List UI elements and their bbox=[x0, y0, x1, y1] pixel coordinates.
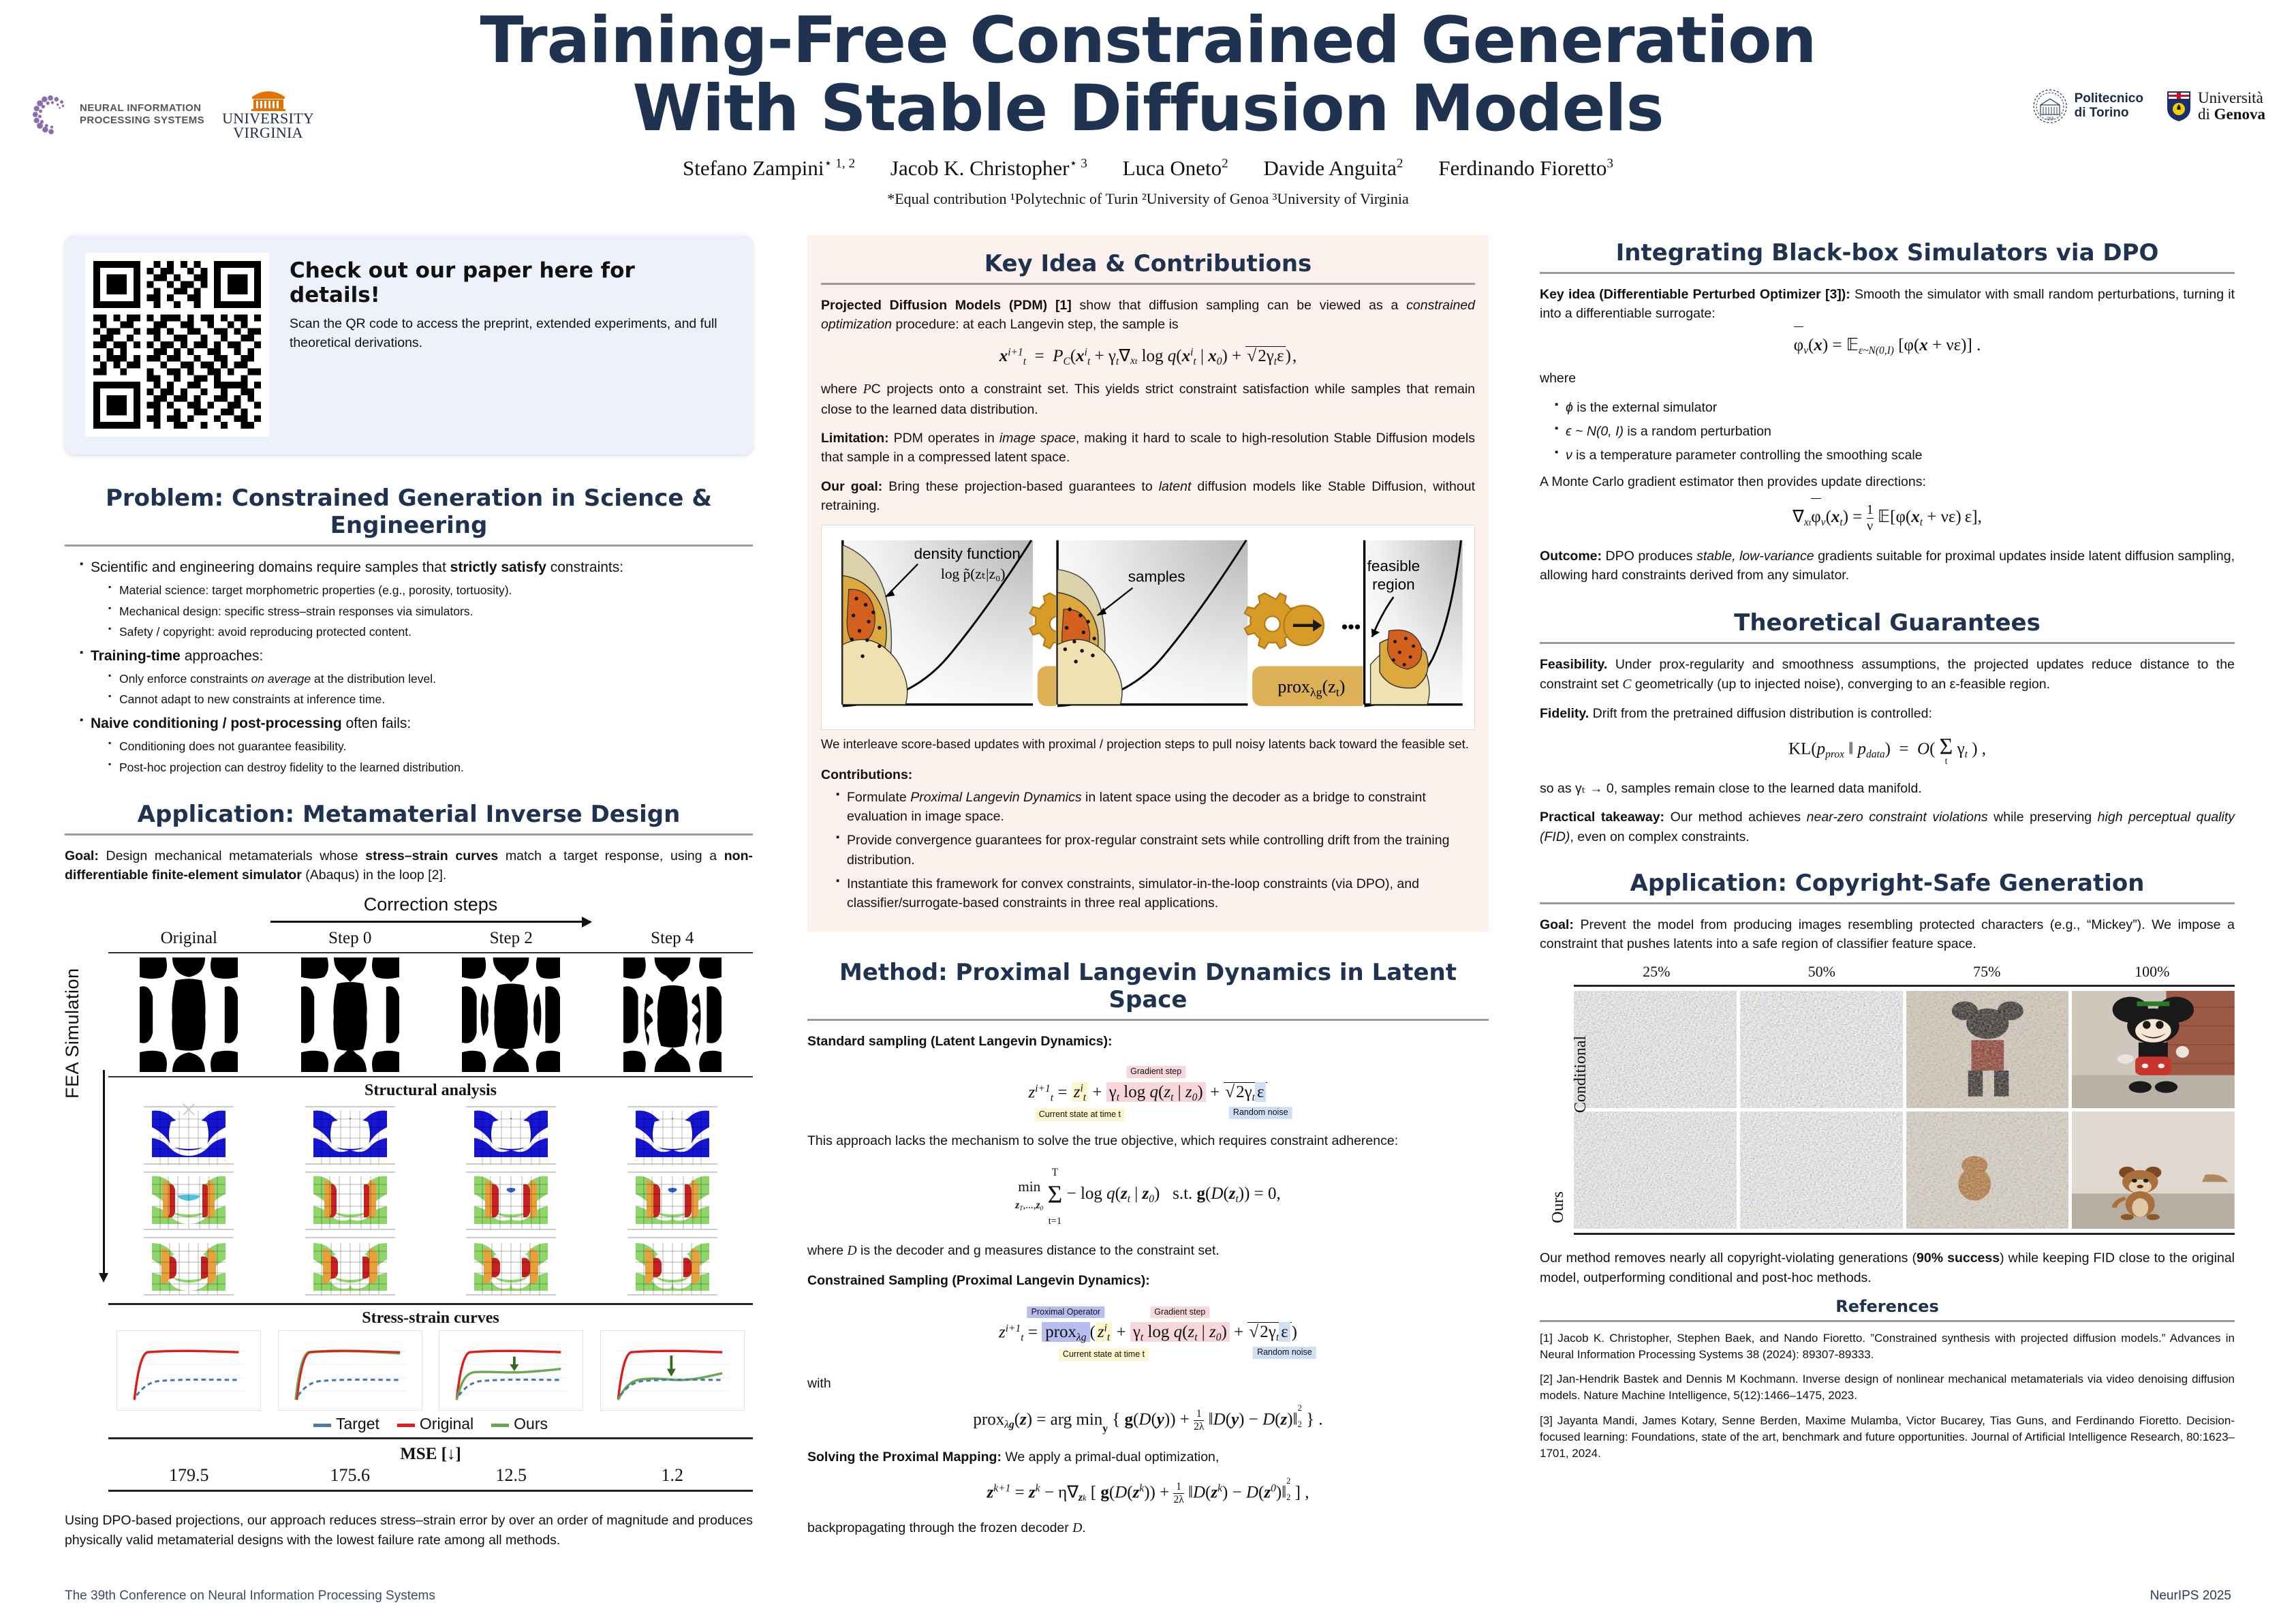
key-idea-limitation: Limitation: PDM operates in image space,… bbox=[821, 429, 1475, 468]
mse-title: MSE [↓] bbox=[108, 1445, 753, 1464]
copyright-conclusion: Our method removes nearly all copyright-… bbox=[1540, 1248, 2235, 1287]
with-label: with bbox=[807, 1374, 1489, 1393]
col-head: 75% bbox=[1904, 963, 2070, 981]
diagram-caption: We interleave score-based updates with p… bbox=[821, 735, 1475, 754]
col-head: Step 4 bbox=[592, 929, 754, 948]
col-head: 25% bbox=[1574, 963, 1739, 981]
formula-latent-langevin: zi+1t = zitCurrent state at time t + γt … bbox=[807, 1083, 1489, 1104]
formula-primal-dual: zk+1 = zk − η∇zk [ g(D(zk)) + 12λ ‖D(zk)… bbox=[807, 1477, 1489, 1506]
qr-code-icon bbox=[93, 261, 261, 429]
fea-row-mid bbox=[108, 1168, 753, 1234]
copyright-col-heads: 25% 50% 75% 100% bbox=[1574, 963, 2235, 981]
sub-bullet-item: Conditioning does not guarantee feasibil… bbox=[108, 738, 753, 755]
stress-strain-legend: Target Original Ours bbox=[108, 1415, 753, 1433]
jerry-image bbox=[2072, 1112, 2235, 1229]
footer-right: NeurIPS 2025 bbox=[2150, 1589, 2231, 1604]
density-formula-label: log p̃(zₜ|z₀) bbox=[941, 566, 1006, 582]
formula-pdm-update: xi+1t = PC(xit + γt∇xt log q(xit | x0) +… bbox=[821, 346, 1475, 368]
prox-diagram-svg: density function log p̃(zₜ|z₀) bbox=[826, 530, 1470, 722]
sub-bullets: Only enforce constraints on average at t… bbox=[91, 671, 753, 709]
qr-card[interactable]: Check out our paper here for details! Sc… bbox=[65, 235, 753, 455]
prox-diagram: density function log p̃(zₜ|z₀) bbox=[821, 525, 1475, 730]
final-sample-cell bbox=[2072, 1112, 2235, 1229]
unige-line1: Università bbox=[2198, 90, 2265, 106]
legend-swatch bbox=[313, 1424, 331, 1427]
poster-root: NEURAL INFORMATION PROCESSING SYSTEMS bbox=[0, 0, 2296, 1624]
stress-chart-cell bbox=[108, 1330, 270, 1411]
divider bbox=[65, 545, 753, 547]
title-line-1: Training-Free Constrained Generation bbox=[0, 7, 2296, 75]
tag-gradient-step: Gradient step bbox=[1126, 1066, 1185, 1078]
uva-logo: UNIVERSITY VIRGINIA bbox=[222, 89, 314, 140]
fea-cell bbox=[431, 1168, 592, 1234]
feasible-label-line1: feasible bbox=[1367, 557, 1421, 574]
dpo-mc-text: A Monte Carlo gradient estimator then pr… bbox=[1540, 472, 2235, 491]
column-right: Integrating Black-box Simulators via DPO… bbox=[1540, 235, 2235, 1470]
polito-logo-text: Politecnico di Torino bbox=[2075, 92, 2143, 121]
final-sample-cell bbox=[2072, 991, 2235, 1108]
qr-card-text: Check out our paper here for details! Sc… bbox=[290, 253, 732, 353]
noise-sample-cell bbox=[1740, 991, 1903, 1108]
design-cell bbox=[431, 957, 592, 1072]
sub-bullets: Material science: target morphometric pr… bbox=[91, 582, 753, 641]
diagram-panel-3: feasible region bbox=[1363, 540, 1462, 706]
mse-value: 12.5 bbox=[431, 1465, 592, 1486]
fea-row-deformed bbox=[108, 1234, 753, 1299]
unige-logo-text: Università di Genova bbox=[2198, 90, 2265, 123]
stress-strain-chart bbox=[117, 1330, 261, 1411]
sub-bullet-item: Material science: target morphometric pr… bbox=[108, 582, 753, 599]
sub-bullet-item: Post-hoc projection can destroy fidelity… bbox=[108, 759, 753, 776]
noise-image bbox=[1740, 1112, 1903, 1229]
col-head: Original bbox=[108, 929, 270, 948]
copyright-row-ours bbox=[1574, 1112, 2235, 1229]
density-function-label: density function bbox=[914, 545, 1021, 562]
noise-sample-cell bbox=[1574, 991, 1737, 1108]
qr-code[interactable] bbox=[85, 253, 269, 437]
fea-cell bbox=[108, 1168, 270, 1234]
fea-deformed-icon bbox=[463, 1234, 559, 1299]
contribution-item: Instantiate this framework for convex co… bbox=[836, 874, 1475, 913]
solving-prox-label: Solving the Proximal Mapping: We apply a… bbox=[807, 1447, 1489, 1467]
section-heading-key-idea: Key Idea & Contributions bbox=[821, 247, 1475, 277]
dpo-bullets: ϕ is the external simulator ϵ ~ N(0, I) … bbox=[1540, 398, 2235, 465]
mickey-image bbox=[2072, 991, 2235, 1108]
fea-simulation-label: FEA Simulation bbox=[62, 968, 83, 1099]
tag-gradient-step: Gradient step bbox=[1150, 1306, 1209, 1319]
metamaterial-col-heads: Original Step 0 Step 2 Step 4 bbox=[108, 929, 753, 948]
formula-prox-definition: proxλg(z) = arg miny { g(D(y)) + 12λ ‖D(… bbox=[807, 1405, 1489, 1435]
neurips-logo-text: NEURAL INFORMATION PROCESSING SYSTEMS bbox=[80, 102, 204, 126]
copyright-row-conditional bbox=[1574, 991, 2235, 1108]
mse-value: 179.5 bbox=[108, 1465, 270, 1486]
sub-bullet-item: Safety / copyright: avoid reproducing pr… bbox=[108, 624, 753, 641]
author-item: Ferdinando Fioretto3 bbox=[1438, 156, 1613, 180]
stress-strain-label: Stress-strain curves bbox=[108, 1309, 753, 1328]
mse-values-row: 179.5 175.6 12.5 1.2 bbox=[108, 1465, 753, 1486]
metamaterial-goal: Goal: Design mechanical metamaterials wh… bbox=[65, 846, 753, 885]
svg-text:1859: 1859 bbox=[2046, 117, 2053, 121]
prox-badge-2: proxλg(zt) bbox=[1252, 667, 1370, 707]
noise-sample-cell bbox=[1574, 1112, 1737, 1229]
polito-line1: Politecnico bbox=[2075, 92, 2143, 106]
copyright-goal: Goal: Prevent the model from producing i… bbox=[1540, 915, 2235, 954]
col-head: 100% bbox=[2070, 963, 2235, 981]
partial-mickey-image bbox=[1906, 991, 2069, 1108]
unige-logo: Università di Genova bbox=[2167, 90, 2265, 123]
key-idea-p2: where PC projects onto a constraint set.… bbox=[821, 380, 1475, 419]
metamaterial-design-icon bbox=[299, 957, 401, 1072]
standard-sampling-label: Standard sampling (Latent Langevin Dynam… bbox=[807, 1032, 1489, 1051]
contribution-item: Provide convergence guarantees for prox-… bbox=[836, 831, 1475, 870]
author-item: Luca Oneto2 bbox=[1123, 156, 1228, 180]
contribution-item: Formulate Proximal Langevin Dynamics in … bbox=[836, 788, 1475, 827]
rotunda-icon bbox=[249, 89, 288, 112]
design-cell bbox=[592, 957, 754, 1072]
noise-image bbox=[1740, 991, 1903, 1108]
theory-feasibility: Feasibility. Under prox-regularity and s… bbox=[1540, 655, 2235, 694]
noise-image bbox=[1574, 1112, 1737, 1229]
key-idea-p1: Projected Diffusion Models (PDM) [1] sho… bbox=[821, 296, 1475, 335]
formula-mc-gradient: ∇xtφν(xt) = 1ν 𝔼[φ(xt + νε) ε], bbox=[1540, 502, 2235, 534]
fea-cell bbox=[108, 1234, 270, 1299]
reference-item: [1] Jacob K. Christopher, Stephen Baek, … bbox=[1540, 1330, 2235, 1363]
tag-random-noise: Random noise bbox=[1229, 1107, 1292, 1119]
fea-deformed-icon bbox=[141, 1234, 236, 1299]
polito-seal-icon: 1859 bbox=[2032, 89, 2068, 124]
contributions-list: Formulate Proximal Langevin Dynamics in … bbox=[821, 788, 1475, 913]
fea-deformed-icon bbox=[625, 1234, 720, 1299]
neurips-line1: NEURAL INFORMATION bbox=[80, 102, 204, 114]
method-after-eq1: This approach lacks the mechanism to sol… bbox=[807, 1131, 1489, 1150]
reference-item: [3] Jayanta Mandi, James Kotary, Senne B… bbox=[1540, 1413, 2235, 1462]
dpo-key-idea: Key idea (Differentiable Perturbed Optim… bbox=[1540, 285, 2235, 324]
stress-strain-charts bbox=[108, 1330, 753, 1411]
col-head: 50% bbox=[1739, 963, 1905, 981]
diagram-ellipsis: ••• bbox=[1341, 617, 1361, 637]
fea-stress-icon bbox=[141, 1168, 236, 1234]
row-label-ours: Ours bbox=[1549, 1192, 1568, 1224]
fea-cell bbox=[431, 1234, 592, 1299]
stress-chart-cell bbox=[592, 1330, 754, 1411]
qr-card-subtitle: Scan the QR code to access the preprint,… bbox=[290, 314, 732, 353]
divider bbox=[65, 833, 753, 836]
fea-mesh-icon bbox=[625, 1103, 720, 1168]
fea-stress-icon bbox=[625, 1168, 720, 1234]
fea-cell bbox=[592, 1234, 754, 1299]
section-heading-method: Method: Proximal Langevin Dynamics in La… bbox=[807, 955, 1489, 1013]
bullet-item: Scientific and engineering domains requi… bbox=[80, 557, 753, 641]
column-middle: Key Idea & Contributions Projected Diffu… bbox=[807, 235, 1489, 1548]
correction-steps-label: Correction steps bbox=[108, 894, 753, 915]
references-title: References bbox=[1540, 1297, 2235, 1316]
theory-takeaway: Practical takeaway: Our method achieves … bbox=[1540, 808, 2235, 846]
col-head: Step 0 bbox=[270, 929, 431, 948]
problem-bullets: Scientific and engineering domains requi… bbox=[65, 557, 753, 776]
formula-objective: minzT,...,z0 TΣt=1 − log q(zt | z0) s.t.… bbox=[807, 1161, 1489, 1229]
fea-row-blue bbox=[108, 1103, 753, 1168]
row-label-conditional: Conditional bbox=[1572, 1036, 1590, 1113]
unige-shield-icon bbox=[2167, 91, 2191, 122]
dpo-bullet-item: ϵ ~ N(0, I) is a random perturbation bbox=[1555, 422, 2235, 441]
reference-item: [2] Jan-Hendrik Bastek and Dennis M Koch… bbox=[1540, 1371, 2235, 1404]
divider bbox=[1540, 642, 2235, 644]
partial-sample-cell bbox=[1906, 991, 2069, 1108]
dpo-bullet-item: ν is a temperature parameter controlling… bbox=[1555, 446, 2235, 465]
formula-kl-bound: KL(pprox ‖ pdata) = O( Σt γt ) , bbox=[1540, 734, 2235, 767]
legend-swatch bbox=[491, 1424, 509, 1427]
divider bbox=[821, 283, 1475, 285]
structural-analysis-label: Structural analysis bbox=[108, 1082, 753, 1100]
dpo-bullet-item: ϕ is the external simulator bbox=[1555, 398, 2235, 417]
partial-sample-cell bbox=[1906, 1112, 2069, 1229]
section-heading-problem: Problem: Constrained Generation in Scien… bbox=[65, 480, 753, 539]
unige-di: di bbox=[2198, 106, 2214, 123]
formula-smoothed-simulator: φν(x) = 𝔼ε~N(0,I) [φ(x + νε)] . bbox=[1540, 335, 2235, 357]
metamaterial-design-icon bbox=[460, 957, 562, 1072]
column-left: Check out our paper here for details! Sc… bbox=[65, 235, 753, 1559]
fea-down-arrow-icon bbox=[103, 1070, 105, 1274]
author-list: Stefano Zampini⋆ 1, 2 Jacob K. Christoph… bbox=[0, 155, 2296, 180]
fea-cell bbox=[108, 1103, 270, 1168]
key-idea-goal: Our goal: Bring these projection-based g… bbox=[821, 477, 1475, 516]
key-idea-panel: Key Idea & Contributions Projected Diffu… bbox=[807, 235, 1489, 932]
stress-chart-cell bbox=[431, 1330, 592, 1411]
formula-proximal-langevin: zi+1t = proxλgProximal Operator(zitCurre… bbox=[807, 1323, 1489, 1344]
contributions-label: Contributions: bbox=[821, 767, 912, 782]
title-line-2: With Stable Diffusion Models bbox=[0, 75, 2296, 143]
correction-arrow-icon bbox=[270, 917, 591, 926]
tag-current-state: Current state at time t bbox=[1059, 1349, 1149, 1361]
stress-strain-chart bbox=[439, 1330, 583, 1411]
fea-mesh-icon bbox=[463, 1103, 559, 1168]
polito-logo: 1859 Politecnico di Torino bbox=[2032, 89, 2143, 124]
design-row bbox=[108, 957, 753, 1072]
fea-stress-icon bbox=[302, 1168, 398, 1234]
neurips-logo: NEURAL INFORMATION PROCESSING SYSTEMS bbox=[31, 93, 204, 136]
sub-bullet-item: Mechanical design: specific stress–strai… bbox=[108, 603, 753, 620]
neurips-swirl-icon bbox=[31, 93, 73, 136]
legend-item-ours: Ours bbox=[491, 1415, 548, 1433]
mse-value: 175.6 bbox=[270, 1465, 431, 1486]
polito-line2: di Torino bbox=[2075, 106, 2143, 121]
section-heading-copyright: Application: Copyright-Safe Generation bbox=[1540, 865, 2235, 897]
backprop-note: backpropagating through the frozen decod… bbox=[807, 1518, 1489, 1538]
tag-random-noise: Random noise bbox=[1253, 1347, 1316, 1359]
fea-cell bbox=[270, 1103, 431, 1168]
page-title: Training-Free Constrained Generation Wit… bbox=[0, 0, 2296, 142]
bullet-item: Naive conditioning / post-processing oft… bbox=[80, 714, 753, 776]
affiliations: *Equal contribution ¹Polytechnic of Turi… bbox=[0, 190, 2296, 208]
design-cell bbox=[270, 957, 431, 1072]
fea-cell bbox=[270, 1234, 431, 1299]
mse-value: 1.2 bbox=[592, 1465, 754, 1486]
theory-so-as: so as γₜ → 0, samples remain close to th… bbox=[1540, 779, 2235, 798]
poster-header: NEURAL INFORMATION PROCESSING SYSTEMS bbox=[0, 0, 2296, 232]
metamaterial-design-icon bbox=[621, 957, 724, 1072]
method-after-eq2: where D is the decoder and g measures di… bbox=[807, 1241, 1489, 1261]
diagram-panel-2: samples bbox=[1056, 540, 1248, 706]
section-heading-dpo: Integrating Black-box Simulators via DPO bbox=[1540, 235, 2235, 266]
sub-bullets: Conditioning does not guarantee feasibil… bbox=[91, 738, 753, 776]
sub-bullet-item: Only enforce constraints on average at t… bbox=[108, 671, 753, 688]
author-item: Stefano Zampini⋆ 1, 2 bbox=[683, 156, 855, 180]
partial-jerry-image bbox=[1906, 1112, 2069, 1229]
fea-cell bbox=[431, 1103, 592, 1168]
diagram-panel-1: density function log p̃(zₜ|z₀) bbox=[841, 540, 1034, 706]
right-logos: 1859 Politecnico di Torino Universi bbox=[2032, 89, 2265, 124]
tag-proximal-operator: Proximal Operator bbox=[1027, 1306, 1104, 1319]
noise-image bbox=[1574, 991, 1737, 1108]
left-logos: NEURAL INFORMATION PROCESSING SYSTEMS bbox=[31, 89, 314, 140]
fea-mesh-icon bbox=[141, 1103, 236, 1168]
divider bbox=[1540, 272, 2235, 274]
unige-genova: Genova bbox=[2214, 106, 2265, 123]
dpo-outcome: Outcome: DPO produces stable, low-varian… bbox=[1540, 547, 2235, 585]
uva-line2: VIRGINIA bbox=[222, 126, 314, 140]
legend-item-original: Original bbox=[397, 1415, 474, 1433]
author-item: Davide Anguita2 bbox=[1263, 156, 1403, 180]
fea-cell bbox=[270, 1168, 431, 1234]
section-heading-metamaterial: Application: Metamaterial Inverse Design bbox=[65, 797, 753, 828]
samples-label: samples bbox=[1128, 568, 1185, 585]
sub-bullet-item: Cannot adapt to new constraints at infer… bbox=[108, 691, 753, 708]
qr-card-title: Check out our paper here for details! bbox=[290, 258, 732, 307]
design-cell bbox=[108, 957, 270, 1072]
author-item: Jacob K. Christopher⋆ 3 bbox=[890, 156, 1087, 180]
section-heading-theory: Theoretical Guarantees bbox=[1540, 605, 2235, 637]
divider bbox=[1540, 902, 2235, 904]
stress-strain-chart bbox=[600, 1330, 745, 1411]
metamaterial-conclusion: Using DPO-based projections, our approac… bbox=[65, 1511, 753, 1550]
dpo-where-label: where bbox=[1540, 369, 2235, 388]
feasible-label-line2: region bbox=[1372, 576, 1415, 593]
fea-stress-icon bbox=[463, 1168, 559, 1234]
fea-mesh-icon bbox=[302, 1103, 398, 1168]
copyright-grid: 25% 50% 75% 100% Conditional bbox=[1540, 963, 2235, 1235]
col-head: Step 2 bbox=[431, 929, 592, 948]
divider bbox=[807, 1019, 1489, 1021]
uva-logo-text: UNIVERSITY VIRGINIA bbox=[222, 112, 314, 140]
noise-sample-cell bbox=[1740, 1112, 1903, 1229]
fea-cell bbox=[592, 1168, 754, 1234]
metamaterial-design-icon bbox=[138, 957, 240, 1072]
theory-fidelity: Fidelity. Drift from the pretrained diff… bbox=[1540, 704, 2235, 723]
tag-current-state: Current state at time t bbox=[1035, 1109, 1125, 1121]
constrained-sampling-label: Constrained Sampling (Proximal Langevin … bbox=[807, 1271, 1489, 1290]
fea-cell bbox=[592, 1103, 754, 1168]
stress-chart-cell bbox=[270, 1330, 431, 1411]
stress-strain-chart bbox=[278, 1330, 422, 1411]
legend-swatch bbox=[397, 1424, 415, 1427]
divider bbox=[1540, 1320, 2235, 1322]
footer-left: The 39th Conference on Neural Informatio… bbox=[65, 1589, 435, 1604]
legend-item-target: Target bbox=[313, 1415, 379, 1433]
fea-deformed-icon bbox=[302, 1234, 398, 1299]
neurips-line2: PROCESSING SYSTEMS bbox=[80, 114, 204, 127]
metamaterial-figure: FEA Simulation Correction steps Original… bbox=[65, 894, 753, 1492]
unige-line2: di Genova bbox=[2198, 106, 2265, 123]
bullet-item: Training-time approaches: Only enforce c… bbox=[80, 646, 753, 709]
